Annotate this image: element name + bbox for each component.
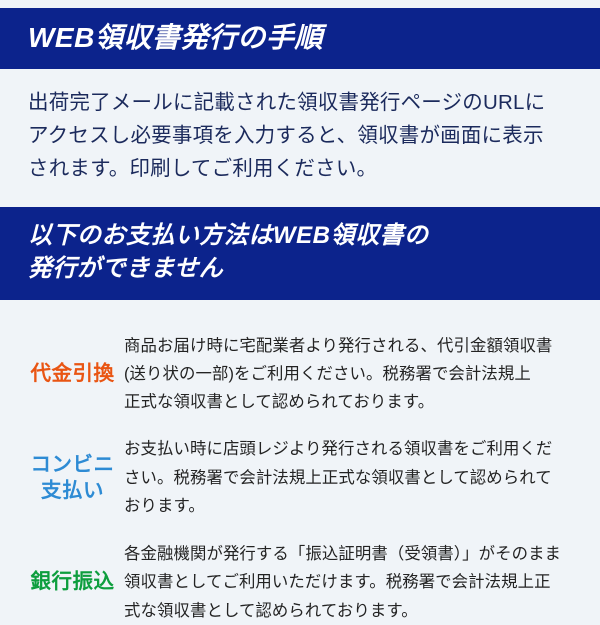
payment-method-row-konbini: コンビニ 支払い お支払い時に店頭レジより発行される領収書をご利用くだ さい。税… <box>0 435 600 520</box>
secondary-heading-band: 以下のお支払い方法はWEB領収書の 発行ができません <box>0 207 600 299</box>
page-title: WEB領収書発行の手順 <box>28 20 600 56</box>
desc-line: おります。 <box>124 492 578 520</box>
intro-line-1: 出荷完了メールに記載された領収書発行ページのURLに <box>28 86 580 119</box>
secondary-heading-line-1: 以下のお支払い方法はWEB領収書の <box>28 222 429 249</box>
payment-method-description-cod: 商品お届け時に宅配業者より発行される、代引金額領収書 (送り状の一部)をご利用く… <box>117 332 586 417</box>
desc-line: 式な領収書として認められております。 <box>124 597 578 625</box>
desc-line: お支払い時に店頭レジより発行される領収書をご利用くだ <box>124 435 578 463</box>
primary-heading-band: WEB領収書発行の手順 <box>0 8 600 69</box>
payment-method-description-konbini: お支払い時に店頭レジより発行される領収書をご利用くだ さい。税務署で会計法規上正… <box>117 435 586 520</box>
payment-method-label-furikomi: 銀行振込 <box>0 569 117 595</box>
payment-method-list: 代金引換 商品お届け時に宅配業者より発行される、代引金額領収書 (送り状の一部)… <box>0 300 600 625</box>
desc-line: さい。税務署で会計法規上正式な領収書として認められて <box>124 464 578 492</box>
secondary-heading-line-2: 発行ができません <box>28 253 600 285</box>
payment-method-row-furikomi: 銀行振込 各金融機関が発行する「振込証明書（受領書）」がそのまま 領収書としてご… <box>0 540 600 625</box>
payment-method-row-cod: 代金引換 商品お届け時に宅配業者より発行される、代引金額領収書 (送り状の一部)… <box>0 332 600 417</box>
desc-line: 各金融機関が発行する「振込証明書（受領書）」がそのまま <box>124 540 578 568</box>
secondary-heading: 以下のお支払い方法はWEB領収書の 発行ができません <box>28 220 600 284</box>
intro-line-2: アクセスし必要事項を入力すると、領収書が画面に表示 <box>28 119 580 152</box>
desc-line: 領収書としてご利用いただけます。税務署で会計法規上正 <box>124 568 578 596</box>
payment-method-description-furikomi: 各金融機関が発行する「振込証明書（受領書）」がそのまま 領収書としてご利用いただ… <box>117 540 586 625</box>
intro-paragraph: 出荷完了メールに記載された領収書発行ページのURLに アクセスし必要事項を入力す… <box>0 69 600 186</box>
receipt-info-page: WEB領収書発行の手順 出荷完了メールに記載された領収書発行ページのURLに ア… <box>0 8 600 608</box>
desc-line: 商品お届け時に宅配業者より発行される、代引金額領収書 <box>124 332 578 360</box>
payment-method-label-konbini: コンビニ 支払い <box>0 452 117 504</box>
payment-method-label-cod: 代金引換 <box>0 361 117 387</box>
desc-line: (送り状の一部)をご利用ください。税務署で会計法規上 <box>124 360 578 388</box>
desc-line: 正式な領収書として認められております。 <box>124 388 578 416</box>
intro-line-3: されます。印刷してご利用ください。 <box>28 152 580 185</box>
